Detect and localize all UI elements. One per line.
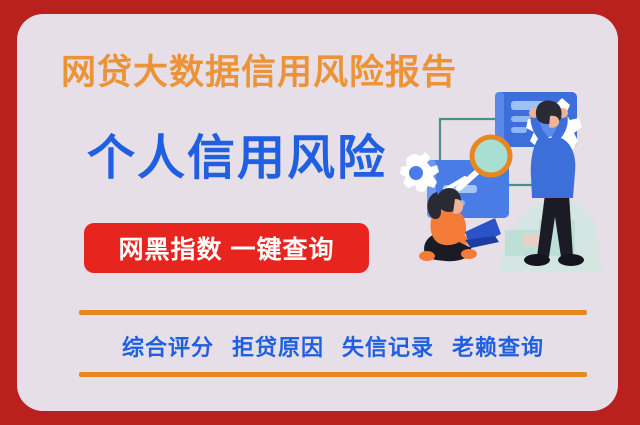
query-cta-button[interactable]: 网黑指数 一键查询 <box>84 223 369 273</box>
footer-link-rejection-reason[interactable]: 拒贷原因 <box>232 330 324 362</box>
footer-link-debtor-lookup[interactable]: 老赖查询 <box>452 330 544 362</box>
page-subtitle: 个人信用风险 <box>87 135 387 183</box>
background-block-3 <box>523 234 541 246</box>
footer-link-row: 综合评分 拒贷原因 失信记录 老赖查询 <box>79 326 587 366</box>
query-cta-label: 网黑指数 一键查询 <box>119 230 335 266</box>
footer-link-comprehensive-score[interactable]: 综合评分 <box>122 330 214 362</box>
credit-report-banner: 网贷大数据信用风险报告 个人信用风险 网黑指数 一键查询 综合评分 拒贷原因 失… <box>0 0 640 425</box>
divider-top <box>79 310 587 315</box>
banner-panel: 网贷大数据信用风险报告 个人信用风险 网黑指数 一键查询 综合评分 拒贷原因 失… <box>17 14 618 411</box>
small-gear-icon <box>400 152 439 192</box>
right-shoe <box>558 254 584 266</box>
credit-report-illustration <box>387 72 617 302</box>
footer-link-default-record[interactable]: 失信记录 <box>342 330 434 362</box>
divider-bottom <box>79 372 587 377</box>
left-shoe <box>524 254 550 266</box>
